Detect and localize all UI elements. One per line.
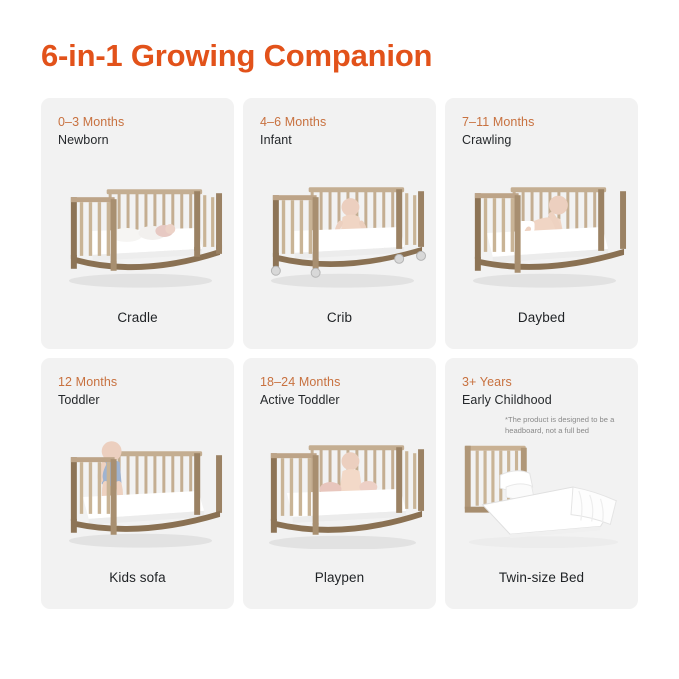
stage-name-label: Newborn <box>58 131 234 149</box>
playpen-illustration <box>243 409 436 570</box>
product-caption: Kids sofa <box>41 570 234 609</box>
age-range-label: 0–3 Months <box>58 114 234 131</box>
stage-card-kids-sofa[interactable]: 12 Months Toddler <box>41 358 234 609</box>
page-title: 6-in-1 Growing Companion <box>41 38 638 74</box>
product-caption: Twin-size Bed <box>445 570 638 609</box>
stage-name-label: Active Toddler <box>260 391 436 409</box>
kids-sofa-illustration <box>41 409 234 570</box>
age-range-label: 4–6 Months <box>260 114 436 131</box>
product-caption: Daybed <box>445 310 638 349</box>
twin-bed-illustration <box>445 409 638 570</box>
stage-name-label: Infant <box>260 131 436 149</box>
stage-name-label: Early Childhood <box>462 391 638 409</box>
stage-name-label: Crawling <box>462 131 638 149</box>
card-header: 12 Months Toddler <box>41 358 234 409</box>
title-section: 6-in-1 Growing Companion <box>41 0 638 98</box>
card-header: 7–11 Months Crawling <box>445 98 638 149</box>
age-range-label: 18–24 Months <box>260 374 436 391</box>
stage-card-grid: 0–3 Months Newborn <box>41 98 638 609</box>
card-header: 18–24 Months Active Toddler <box>243 358 436 409</box>
daybed-illustration <box>445 149 638 310</box>
card-header: 0–3 Months Newborn <box>41 98 234 149</box>
stage-card-daybed[interactable]: 7–11 Months Crawling <box>445 98 638 349</box>
product-caption: Crib <box>243 310 436 349</box>
cradle-illustration <box>41 149 234 310</box>
age-range-label: 7–11 Months <box>462 114 638 131</box>
infographic-page: 6-in-1 Growing Companion 0–3 Months Newb… <box>0 0 679 679</box>
stage-card-crib[interactable]: 4–6 Months Infant <box>243 98 436 349</box>
stage-card-playpen[interactable]: 18–24 Months Active Toddler <box>243 358 436 609</box>
product-caption: Cradle <box>41 310 234 349</box>
product-caption: Playpen <box>243 570 436 609</box>
stage-card-twin-bed[interactable]: 3+ Years Early Childhood *The product is… <box>445 358 638 609</box>
card-header: 3+ Years Early Childhood <box>445 358 638 409</box>
age-range-label: 3+ Years <box>462 374 638 391</box>
stage-card-cradle[interactable]: 0–3 Months Newborn <box>41 98 234 349</box>
age-range-label: 12 Months <box>58 374 234 391</box>
card-header: 4–6 Months Infant <box>243 98 436 149</box>
stage-name-label: Toddler <box>58 391 234 409</box>
crib-illustration <box>243 149 436 310</box>
